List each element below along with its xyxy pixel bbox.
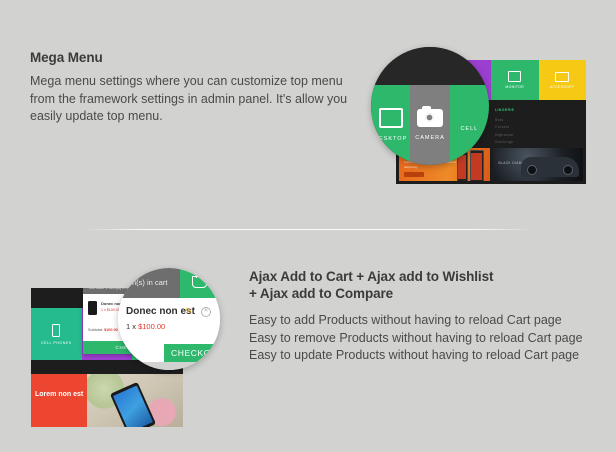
magnifier-dark-header — [371, 47, 489, 85]
dropdown-link[interactable]: Nightwear — [495, 132, 514, 139]
mockup-tile-cell-phones[interactable]: CELL PHONES — [31, 308, 82, 360]
magnified-tile-label: DESKTOP — [374, 136, 407, 142]
dropdown-heading: LINGERIE — [495, 107, 514, 114]
mobile-phone-icon — [52, 324, 60, 337]
magnified-cart-body — [118, 298, 220, 343]
section-divider — [82, 229, 535, 230]
magnifier-tiles: DESKTOP CAMERA CELL — [371, 85, 489, 165]
magnified-price-amount: $100.00 — [138, 322, 165, 331]
magnified-tile-desktop[interactable]: DESKTOP — [371, 85, 410, 165]
shopping-basket-icon — [192, 276, 207, 288]
mega-menu-text-block: Mega Menu Mega menu settings where you c… — [30, 49, 350, 126]
magnified-tile-cell[interactable]: CELL — [450, 85, 489, 165]
mockup-bottom-row: Lorem non est — [31, 374, 183, 427]
section-mega-menu: Mega Menu Mega menu settings where you c… — [0, 0, 616, 215]
camera-icon — [417, 109, 443, 127]
mega-menu-tile-monitor[interactable]: MONITOR — [491, 60, 539, 100]
mega-menu-magnifier: DESKTOP CAMERA CELL — [371, 47, 489, 165]
banner-shop-now-button[interactable] — [404, 172, 424, 177]
smartphone-photo-icon — [110, 382, 156, 427]
dropdown-link[interactable]: Corsets — [495, 124, 514, 131]
magnified-cart-header-text: item(s) in cart — [122, 278, 167, 287]
dropdown-link[interactable]: Bras — [495, 117, 514, 124]
mockup-product-photo — [87, 374, 183, 427]
pencil-edit-icon[interactable]: ✎ — [185, 307, 194, 316]
remove-circle-icon[interactable]: ✕ — [201, 307, 211, 317]
ajax-cart-bullet: Easy to update Products without having t… — [249, 347, 589, 365]
ajax-cart-bullet: Easy to remove Products without having t… — [249, 330, 589, 348]
ajax-cart-magnifier: item(s) in cart Donec non est 1 x $100.0… — [118, 268, 220, 370]
mega-menu-tile-label: ACCESSORY — [550, 85, 575, 89]
dropdown-column-lingerie: LINGERIE Bras Corsets Nightwear Stocking… — [495, 107, 514, 147]
magnified-cart-basket-button[interactable] — [180, 268, 220, 298]
dropdown-link[interactable]: Stockings — [495, 139, 514, 146]
ajax-cart-bullet-list: Easy to add Products without having to r… — [249, 312, 589, 365]
magnified-tile-label: CAMERA — [415, 135, 445, 141]
mockup-tile-label: CELL PHONES — [41, 341, 72, 345]
cart-item-thumbnail — [88, 301, 97, 315]
ajax-cart-title-line-1: Ajax Add to Cart + Ajax add to Wishlist — [249, 269, 493, 284]
cart-subtotal-label: Subtotal: — [88, 328, 103, 332]
tv-icon — [555, 72, 569, 82]
ajax-cart-bullet: Easy to add Products without having to r… — [249, 312, 589, 330]
cart-subtotal-value: $100.00 — [104, 328, 118, 332]
mega-menu-title: Mega Menu — [30, 49, 350, 66]
mega-menu-tile-label: MONITOR — [505, 85, 524, 89]
mockup-red-promo-tile[interactable]: Lorem non est — [31, 374, 87, 427]
banner-car[interactable]: BLACK DIAMOND — [493, 148, 584, 181]
magnified-quantity-prefix: 1 x — [126, 322, 138, 331]
ajax-cart-text-block: Ajax Add to Cart + Ajax add to Wishlist … — [249, 268, 589, 365]
mega-menu-description: Mega menu settings where you can customi… — [30, 73, 350, 126]
magnified-cart-header-bar: item(s) in cart — [118, 268, 180, 298]
mega-menu-tile-accessory[interactable]: ACCESSORY — [539, 60, 587, 100]
car-icon — [521, 157, 579, 177]
magnified-tile-camera[interactable]: CAMERA — [410, 85, 449, 165]
ajax-cart-title: Ajax Add to Cart + Ajax add to Wishlist … — [249, 268, 589, 302]
mockup-red-promo-text: Lorem non est — [35, 390, 83, 399]
cart-item-price: 1 x $100.00 — [101, 308, 120, 312]
ajax-cart-title-line-2: + Ajax add to Compare — [249, 286, 393, 301]
cart-subtotal: Subtotal: $100.00 — [88, 328, 118, 332]
magnified-checkout-button[interactable]: CHECKO — [164, 344, 220, 362]
section-ajax-cart: Ajax Add to Cart + Ajax add to Wishlist … — [0, 248, 616, 452]
magnified-product-price: 1 x $100.00 — [126, 322, 165, 331]
monitor-icon — [508, 71, 521, 82]
magnified-tile-label: CELL — [460, 126, 478, 132]
magnifier-bottom-band — [118, 362, 220, 370]
desktop-icon — [379, 108, 403, 128]
